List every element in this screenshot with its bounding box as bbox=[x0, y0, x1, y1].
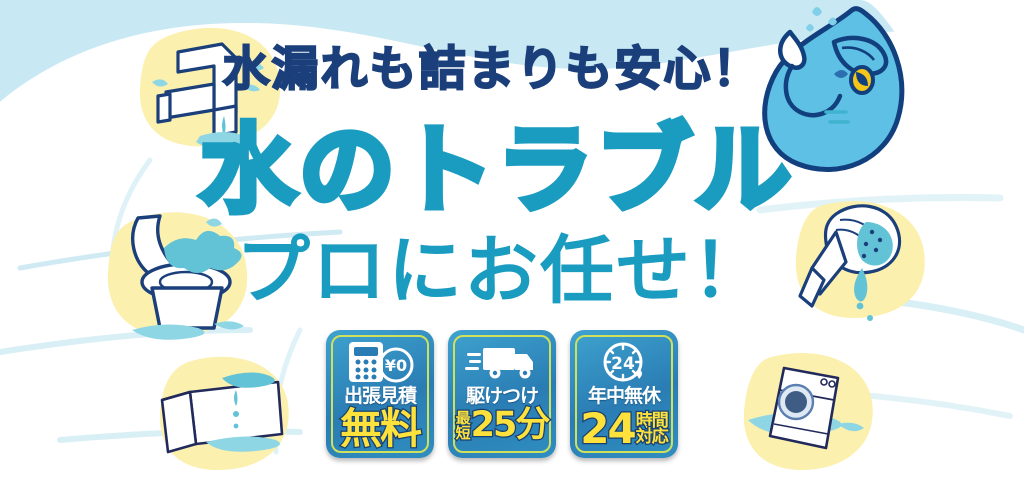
title-sub-text: プロにお任せ！ bbox=[0, 234, 1024, 308]
badge-dispatch-prefix-line2: 短 bbox=[456, 426, 470, 441]
headline-text: 水漏れも詰まりも安心！ bbox=[0, 46, 1024, 93]
title-main-text: 水のトラブル bbox=[0, 122, 1024, 218]
badge-estimate-value: 無料 bbox=[340, 409, 420, 449]
badge-dispatch-value: 最 短 25分 bbox=[456, 409, 549, 442]
badge-dispatch-prefix: 最 短 bbox=[456, 411, 470, 441]
feature-badges: ¥0 出張見積 無料 bbox=[0, 330, 1024, 458]
badge-estimate[interactable]: ¥0 出張見積 無料 bbox=[326, 330, 434, 458]
badge-dispatch-value-text: 25分 bbox=[471, 409, 549, 442]
badge-dispatch[interactable]: 駆けつけ 最 短 25分 bbox=[448, 330, 556, 458]
badge-availability-suffix-line2: 対応 bbox=[636, 429, 668, 445]
badge-availability[interactable]: 24 年中無休 24 時間 対応 bbox=[570, 330, 678, 458]
clock-24-icon: 24 bbox=[598, 339, 650, 385]
badge-availability-value: 24 時間 対応 bbox=[580, 409, 667, 449]
plumbing-service-banner: 水漏れも詰まりも安心！ 水のトラブル プロにお任せ！ bbox=[0, 0, 1024, 497]
badge-dispatch-label: 駆けつけ bbox=[466, 387, 538, 406]
yen-zero-label: ¥0 bbox=[385, 356, 407, 375]
delivery-truck-icon bbox=[465, 339, 539, 385]
badge-availability-value-text: 24 bbox=[580, 409, 634, 449]
badge-availability-suffix: 時間 対応 bbox=[636, 413, 668, 445]
clock-24-label: 24 bbox=[611, 354, 635, 374]
calculator-yen-icon: ¥0 bbox=[345, 339, 415, 385]
badge-estimate-value-text: 無料 bbox=[340, 409, 420, 449]
